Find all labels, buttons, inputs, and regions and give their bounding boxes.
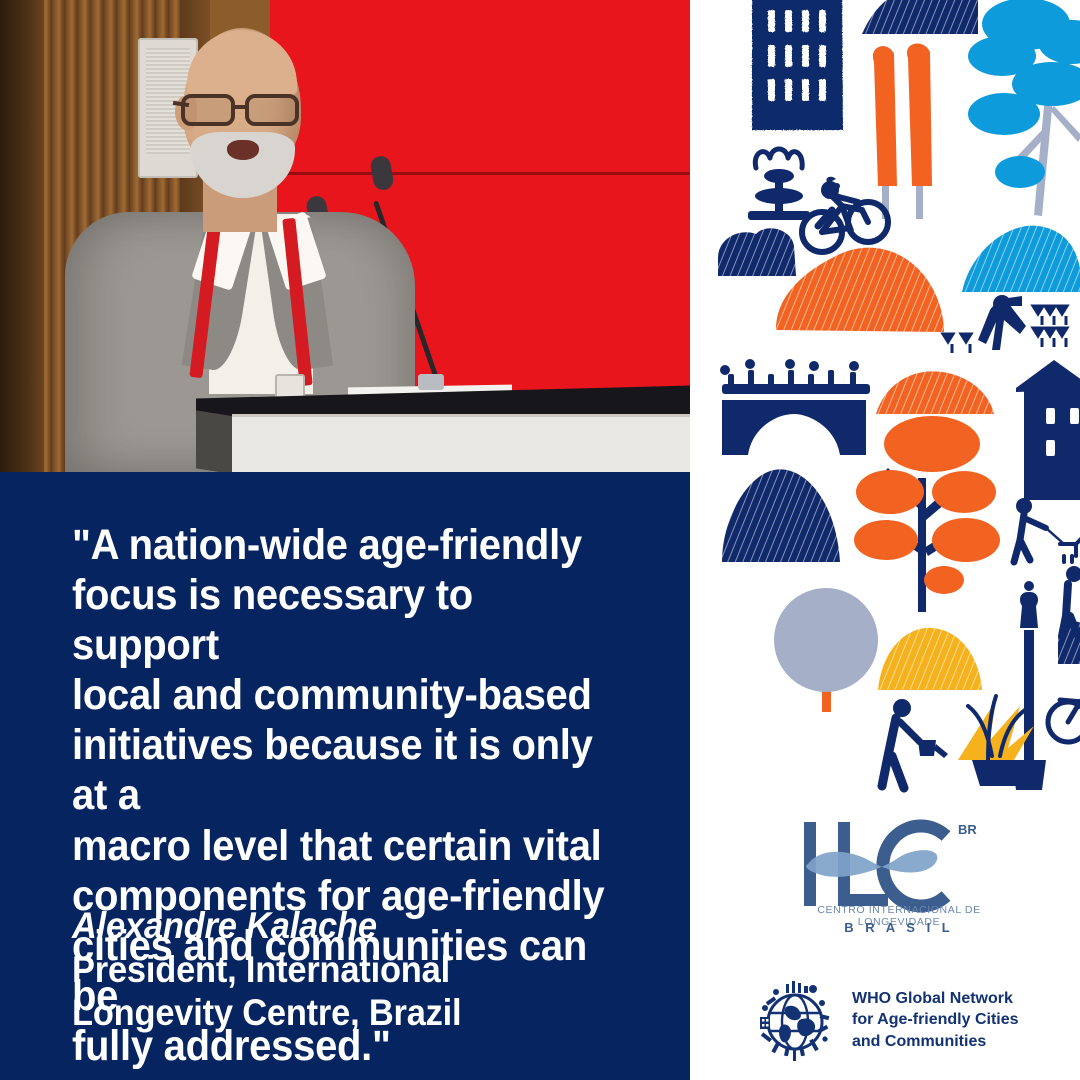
lens-right <box>245 94 299 126</box>
fountain-icon <box>748 149 810 220</box>
attribution-name: Alexandre Kalache <box>72 904 630 948</box>
attribution-role-line-1: President, International <box>72 948 630 992</box>
wood-wall-shadow <box>0 0 44 472</box>
quote-line: initiatives because it is only at a <box>72 720 611 820</box>
ilc-country: B R A S I L <box>794 920 1004 935</box>
hill-navy-icon <box>722 469 840 562</box>
hill-yellow-icon <box>878 628 982 690</box>
lamp-post-icon <box>1012 581 1046 790</box>
speaker-photo <box>0 0 690 472</box>
eyeglasses-icon <box>177 94 312 128</box>
person-watering-plant-icon <box>882 699 948 788</box>
ilc-logo: BR CENTRO INTERNACIONAL DE LONGEVIDADE B… <box>786 812 1006 940</box>
social-quote-card: "A nation-wide age-friendly focus is nec… <box>0 0 1080 1080</box>
pedestrian-icon <box>1062 566 1080 636</box>
quote-line: macro level that certain vital <box>72 821 611 871</box>
globe-with-city-icons <box>752 977 838 1063</box>
hill-scribble-icon <box>862 0 978 34</box>
broadleaf-tree-icon <box>968 0 1080 216</box>
podium-clip <box>418 374 444 390</box>
lens-left <box>181 94 235 126</box>
bush-icon <box>718 228 796 276</box>
house-icon <box>1016 360 1080 500</box>
quote-line: local and community-based <box>72 670 611 720</box>
age-friendly-city-illustration <box>690 0 1080 800</box>
who-text-line-3: and Communities <box>852 1031 1019 1052</box>
who-text-line-1: WHO Global Network <box>852 988 1019 1009</box>
glasses-bridge <box>235 105 249 109</box>
who-text-line-2: for Age-friendly Cities <box>852 1009 1019 1030</box>
person-walking-dog-icon <box>1014 498 1080 562</box>
mouth <box>227 140 259 160</box>
quote-line: "A nation-wide age-friendly <box>72 520 611 570</box>
hill-orange-icon <box>776 248 944 332</box>
apartment-building-icon <box>752 0 843 130</box>
illustration-column: BR CENTRO INTERNACIONAL DE LONGEVIDADE B… <box>690 0 1080 1080</box>
quote-panel: "A nation-wide age-friendly focus is nec… <box>0 472 690 1080</box>
bicycle-icon <box>1048 700 1080 742</box>
hill-orange-small-icon <box>876 371 994 414</box>
poplar-tree-pair-icon <box>873 43 932 219</box>
round-tree-icon <box>774 588 878 712</box>
stone-bridge-icon <box>720 359 870 455</box>
cyclist-icon <box>802 177 888 252</box>
attribution-role-line-2: Longevity Centre, Brazil <box>72 991 630 1035</box>
attribution: Alexandre Kalache President, Internation… <box>72 904 630 1035</box>
potted-plant-icon <box>958 696 1034 786</box>
ilc-superscript: BR <box>958 822 977 837</box>
bald-crown <box>187 30 297 100</box>
layered-tree-icon <box>854 416 1000 612</box>
who-logo: WHO Global Network for Age-friendly Citi… <box>752 972 1062 1068</box>
podium-body <box>232 414 690 472</box>
left-column: "A nation-wide age-friendly focus is nec… <box>0 0 690 1080</box>
quote-line: focus is necessary to support <box>72 570 611 670</box>
who-logo-text: WHO Global Network for Age-friendly Citi… <box>852 988 1019 1051</box>
hill-blue-icon <box>962 226 1080 292</box>
gardener-with-plants-icon <box>943 295 1067 353</box>
